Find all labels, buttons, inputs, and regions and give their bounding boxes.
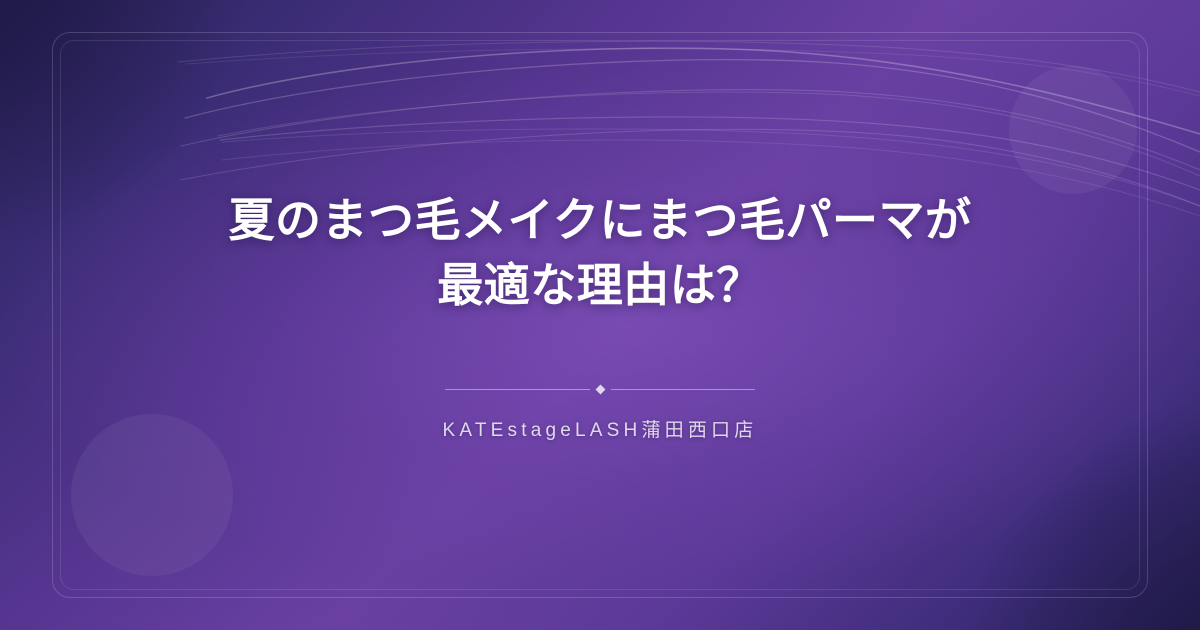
page-title: 夏のまつ毛メイクにまつ毛パーマが 最適な理由は？ (228, 188, 971, 319)
card-content: 夏のまつ毛メイクにまつ毛パーマが 最適な理由は？ KATEstageLASH蒲田… (0, 0, 1200, 630)
og-card: 夏のまつ毛メイクにまつ毛パーマが 最適な理由は？ KATEstageLASH蒲田… (0, 0, 1200, 630)
divider-line-right (611, 389, 756, 390)
divider-line-left (445, 389, 590, 390)
title-divider (445, 386, 755, 393)
diamond-icon (595, 385, 605, 395)
title-line-2: 最適な理由は？ (437, 259, 763, 311)
title-line-1: 夏のまつ毛メイクにまつ毛パーマが (228, 194, 971, 246)
brand-subtitle: KATEstageLASH蒲田西口店 (443, 415, 758, 442)
